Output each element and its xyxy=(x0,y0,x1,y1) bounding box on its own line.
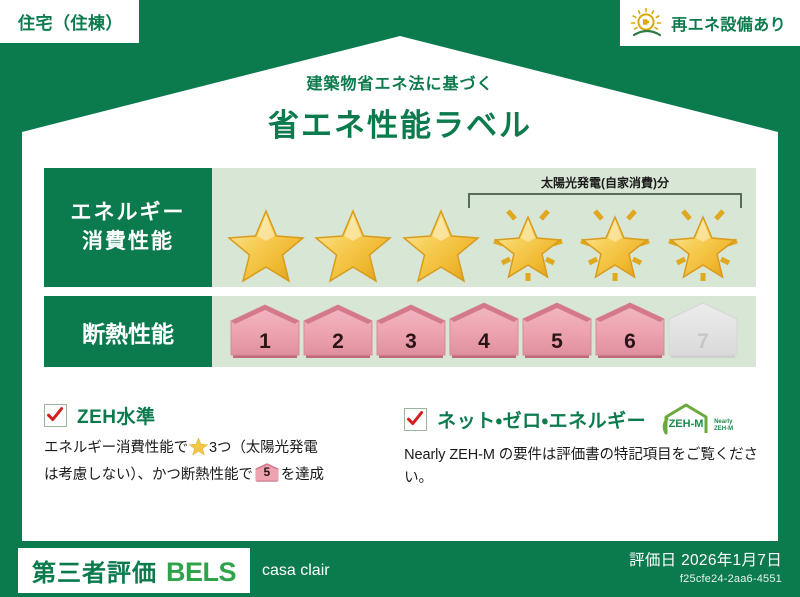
inline-grade-badge: 5 xyxy=(255,463,279,483)
check-icon xyxy=(46,406,64,424)
bels-badge-en: BELS xyxy=(166,557,236,588)
label-main-title: 省エネ性能ラベル xyxy=(0,100,800,145)
zeh-standard-header: ZEH水準 xyxy=(44,402,386,429)
energy-label-line1: エネルギー xyxy=(71,199,186,227)
zeh-text-part1: エネルギー消費性能で xyxy=(44,440,188,456)
bels-badge-jp: 第三者評価 xyxy=(32,553,157,588)
inline-star-icon xyxy=(189,437,208,463)
brand-name: casa clair xyxy=(262,562,330,580)
building-type-badge: 住宅（住棟） xyxy=(0,0,139,43)
zeh-text-part4: を達成 xyxy=(281,467,324,483)
insulation-label-text: 断熱性能 xyxy=(82,315,174,349)
star-6-solar xyxy=(661,189,744,285)
insulation-grade-scale: 1 2 xyxy=(212,302,756,362)
energy-performance-label: エネルギー 消費性能 xyxy=(44,168,212,287)
evaluation-date: 評価日 2026年1月7日 xyxy=(629,548,782,570)
insulation-performance-label: 断熱性能 xyxy=(44,296,212,367)
insulation-grade-6-value: 6 xyxy=(594,330,666,354)
insulation-grade-7: 7 xyxy=(667,302,739,362)
insulation-grade-3: 3 xyxy=(375,302,447,362)
check-icon xyxy=(406,410,424,428)
zeh-m-house-icon: ZEH-M xyxy=(660,402,712,436)
zeh-standard-title: ZEH水準 xyxy=(77,402,156,429)
net-zero-energy-checkbox[interactable] xyxy=(404,408,427,431)
star-5-solar xyxy=(573,189,656,285)
zeh-m-logo-sub2: ZEH-M xyxy=(714,426,733,432)
zeh-m-logo: ZEH-M Nearly ZEH-M xyxy=(660,402,733,436)
zeh-criteria-area: ZEH水準 エネルギー消費性能で3つ（太陽光発電は考慮しない）、かつ断熱性能で5… xyxy=(44,402,760,491)
net-zero-energy-title: ネット・ゼロ・エネルギー xyxy=(437,406,646,433)
inline-grade-value: 5 xyxy=(255,463,279,482)
bels-energy-label: 住宅（住棟） 再エネ設備あり xyxy=(0,0,800,597)
net-zero-energy-header: ネット・ゼロ・エネルギー ZEH-M Nearly ZEH-M xyxy=(404,402,760,436)
star-3 xyxy=(399,189,482,285)
insulation-grade-4: 4 xyxy=(448,302,520,362)
evaluation-info: 評価日 2026年1月7日 f25cfe24-2aa6-4551 xyxy=(629,548,782,585)
net-zero-energy-block: ネット・ゼロ・エネルギー ZEH-M Nearly ZEH-M Nearly Z… xyxy=(404,402,760,491)
energy-performance-row: エネルギー 消費性能 太陽光発電(自家消費)分 xyxy=(44,168,756,287)
insulation-grade-3-value: 3 xyxy=(375,330,447,354)
svg-text:ZEH-M: ZEH-M xyxy=(669,418,704,430)
insulation-grade-4-value: 4 xyxy=(448,330,520,354)
energy-star-rating xyxy=(212,189,756,285)
renewable-equipment-badge: 再エネ設備あり xyxy=(620,0,800,46)
energy-label-line2: 消費性能 xyxy=(82,228,174,256)
evaluation-id: f25cfe24-2aa6-4551 xyxy=(629,573,782,585)
zeh-standard-description: エネルギー消費性能で3つ（太陽光発電は考慮しない）、かつ断熱性能で5を達成 xyxy=(44,437,386,488)
zeh-text-part2: 3つ（太陽光発電 xyxy=(209,440,318,456)
star-4-solar xyxy=(486,189,569,285)
label-subtitle: 建築物省エネ法に基づく xyxy=(0,70,800,94)
zeh-standard-block: ZEH水準 エネルギー消費性能で3つ（太陽光発電は考慮しない）、かつ断熱性能で5… xyxy=(44,402,386,491)
insulation-grade-7-value: 7 xyxy=(667,330,739,354)
star-2 xyxy=(311,189,394,285)
bels-badge: 第三者評価 BELS xyxy=(18,548,250,593)
zeh-standard-checkbox[interactable] xyxy=(44,404,67,427)
energy-performance-body: 太陽光発電(自家消費)分 xyxy=(212,168,756,287)
insulation-grade-1-value: 1 xyxy=(229,330,301,354)
insulation-grade-2: 2 xyxy=(302,302,374,362)
insulation-performance-body: 1 2 xyxy=(212,296,756,367)
insulation-performance-row: 断熱性能 xyxy=(44,296,756,367)
insulation-grade-6: 6 xyxy=(594,302,666,362)
net-zero-energy-description: Nearly ZEH-M の要件は評価書の特記項目をご覧ください。 xyxy=(404,444,760,491)
zeh-text-part3: は考慮しない）、かつ断熱性能で xyxy=(44,467,253,483)
label-title-block: 建築物省エネ法に基づく 省エネ性能ラベル xyxy=(0,70,800,145)
insulation-grade-5: 5 xyxy=(521,302,593,362)
insulation-grade-2-value: 2 xyxy=(302,330,374,354)
label-footer: 第三者評価 BELS casa clair 評価日 2026年1月7日 f25c… xyxy=(0,541,800,597)
performance-rows: エネルギー 消費性能 太陽光発電(自家消費)分 xyxy=(44,168,756,376)
renewable-equipment-label: 再エネ設備あり xyxy=(671,11,786,35)
insulation-grade-1: 1 xyxy=(229,302,301,362)
star-1 xyxy=(224,189,307,285)
insulation-grade-5-value: 5 xyxy=(521,330,593,354)
sun-plug-icon xyxy=(630,7,664,39)
building-type-label: 住宅（住棟） xyxy=(18,14,123,33)
